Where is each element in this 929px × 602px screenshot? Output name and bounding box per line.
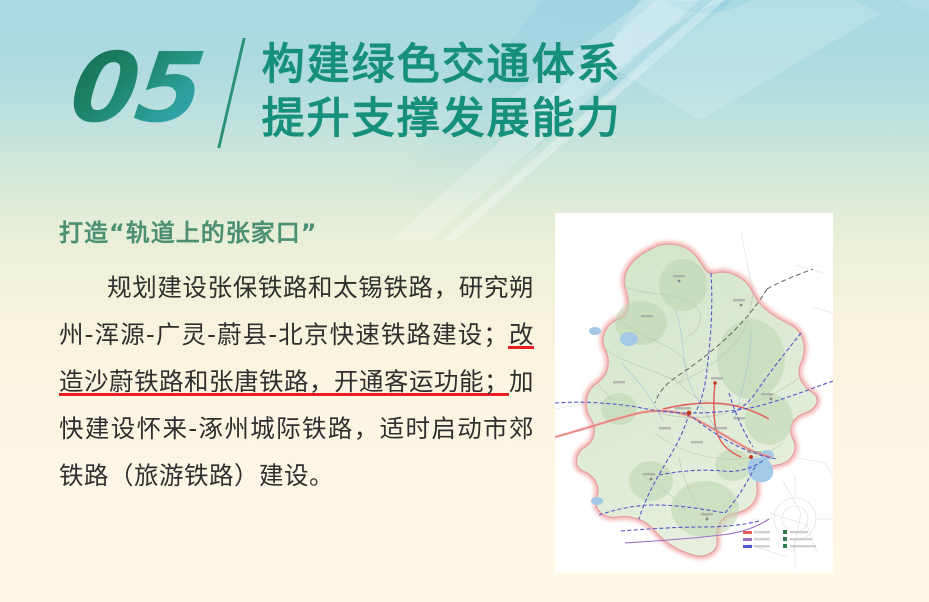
map-graphic [555, 213, 833, 573]
header-title-line-1: 构建绿色交通体系 [262, 38, 622, 92]
header-slash-divider [212, 36, 254, 148]
ribbon-shape-wave-low [600, 0, 880, 120]
header-title-group: 构建绿色交通体系 提升支撑发展能力 [262, 36, 622, 146]
section-header: 05 构建绿色交通体系 提升支撑发展能力 [72, 36, 622, 148]
content-subheading: 打造“轨道上的张家口” [59, 216, 534, 250]
content-column: 打造“轨道上的张家口” 规划建设张保铁路和太锡铁路，研究朔州-浑源-广灵-蔚县-… [59, 216, 534, 499]
slide-page: 05 构建绿色交通体系 提升支撑发展能力 打造“轨道上的张家口” 规划建设张保铁… [0, 0, 929, 602]
map-panel[interactable] [555, 213, 833, 573]
header-title-line-2: 提升支撑发展能力 [262, 92, 622, 146]
section-number: 05 [65, 36, 215, 140]
paragraph-segment-1: 规划建设张保铁路和太锡铁路，研究朔州-浑源-广灵-蔚县-北京快速铁路建设； [59, 273, 534, 349]
map-image [555, 213, 833, 573]
ribbon-shape-wave-top [600, 0, 929, 14]
content-paragraph: 规划建设张保铁路和太锡铁路，研究朔州-浑源-广灵-蔚县-北京快速铁路建设；改造沙… [59, 264, 534, 499]
